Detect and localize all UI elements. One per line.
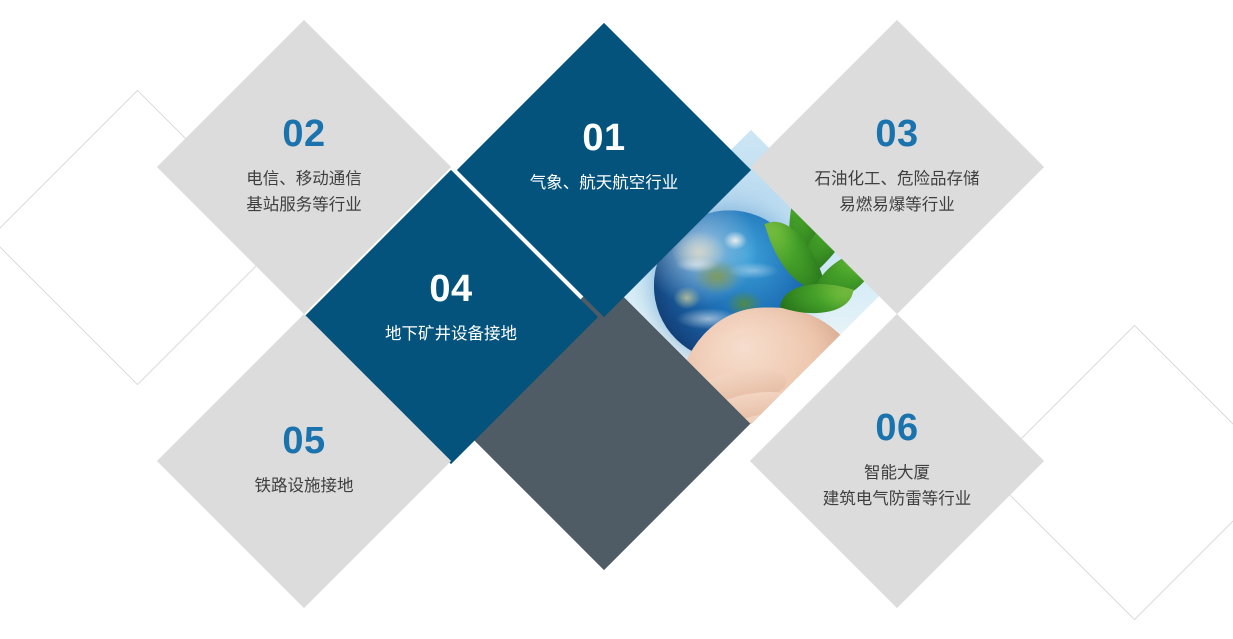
tile-03-shape bbox=[750, 20, 1044, 314]
tile-05-shape bbox=[157, 314, 451, 608]
tile-03[interactable]: 03 石油化工、危险品存储 易燃易爆等行业 bbox=[793, 63, 1001, 271]
slide-canvas: 02 电信、移动通信 基站服务等行业 03 石油化工、危险品存储 易燃易爆等行业… bbox=[0, 0, 1233, 639]
tile-06-shape bbox=[750, 314, 1044, 608]
tile-06[interactable]: 06 智能大厦 建筑电气防雷等行业 bbox=[793, 357, 1001, 565]
tile-05[interactable]: 05 铁路设施接地 bbox=[200, 357, 408, 565]
outline-diamond-right bbox=[1030, 368, 1233, 575]
